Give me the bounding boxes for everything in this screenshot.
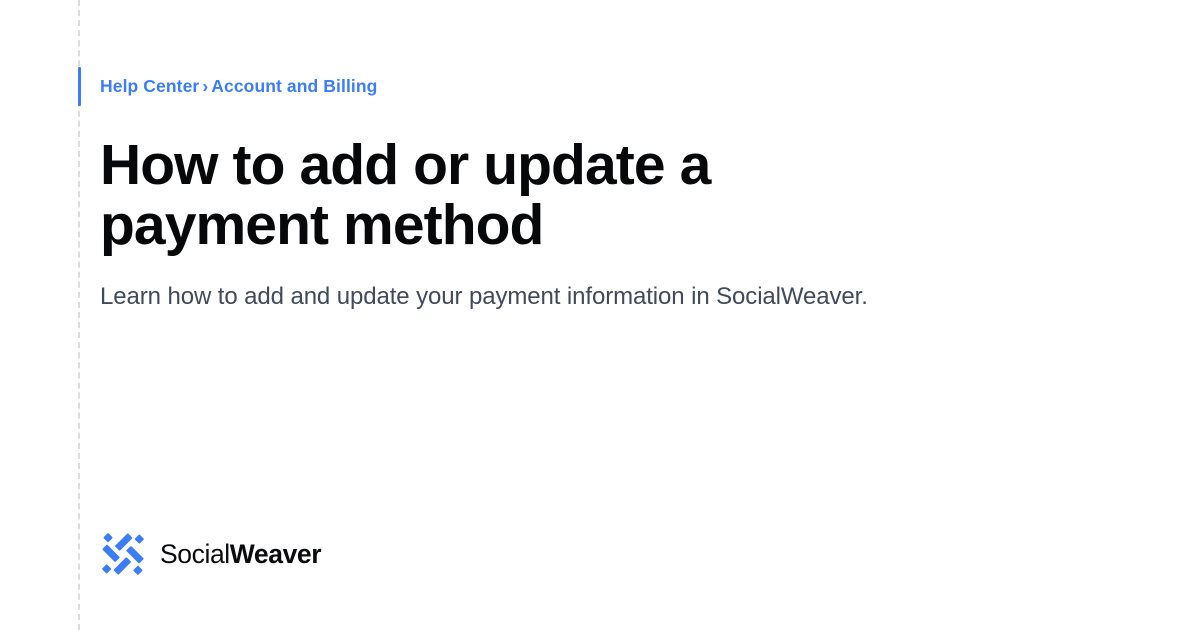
- page-title: How to add or update a payment method: [100, 135, 900, 255]
- help-center-article-card: Help Center›Account and Billing How to a…: [0, 0, 1200, 630]
- socialweaver-logo-icon: [100, 531, 146, 577]
- breadcrumb-item-account-and-billing[interactable]: Account and Billing: [211, 76, 377, 96]
- breadcrumb-item-help-center[interactable]: Help Center: [100, 76, 199, 96]
- page-subtitle: Learn how to add and update your payment…: [100, 280, 1000, 314]
- breadcrumb-accent-bar: [78, 67, 81, 106]
- brand-wordmark-bold: Weaver: [230, 539, 321, 569]
- breadcrumb-separator-icon: ›: [199, 76, 211, 96]
- breadcrumb: Help Center›Account and Billing: [100, 74, 377, 98]
- brand-lockup: SocialWeaver: [100, 531, 321, 577]
- card-content: Help Center›Account and Billing How to a…: [100, 0, 1120, 630]
- brand-wordmark-light: Social: [160, 539, 230, 569]
- brand-wordmark: SocialWeaver: [160, 539, 321, 569]
